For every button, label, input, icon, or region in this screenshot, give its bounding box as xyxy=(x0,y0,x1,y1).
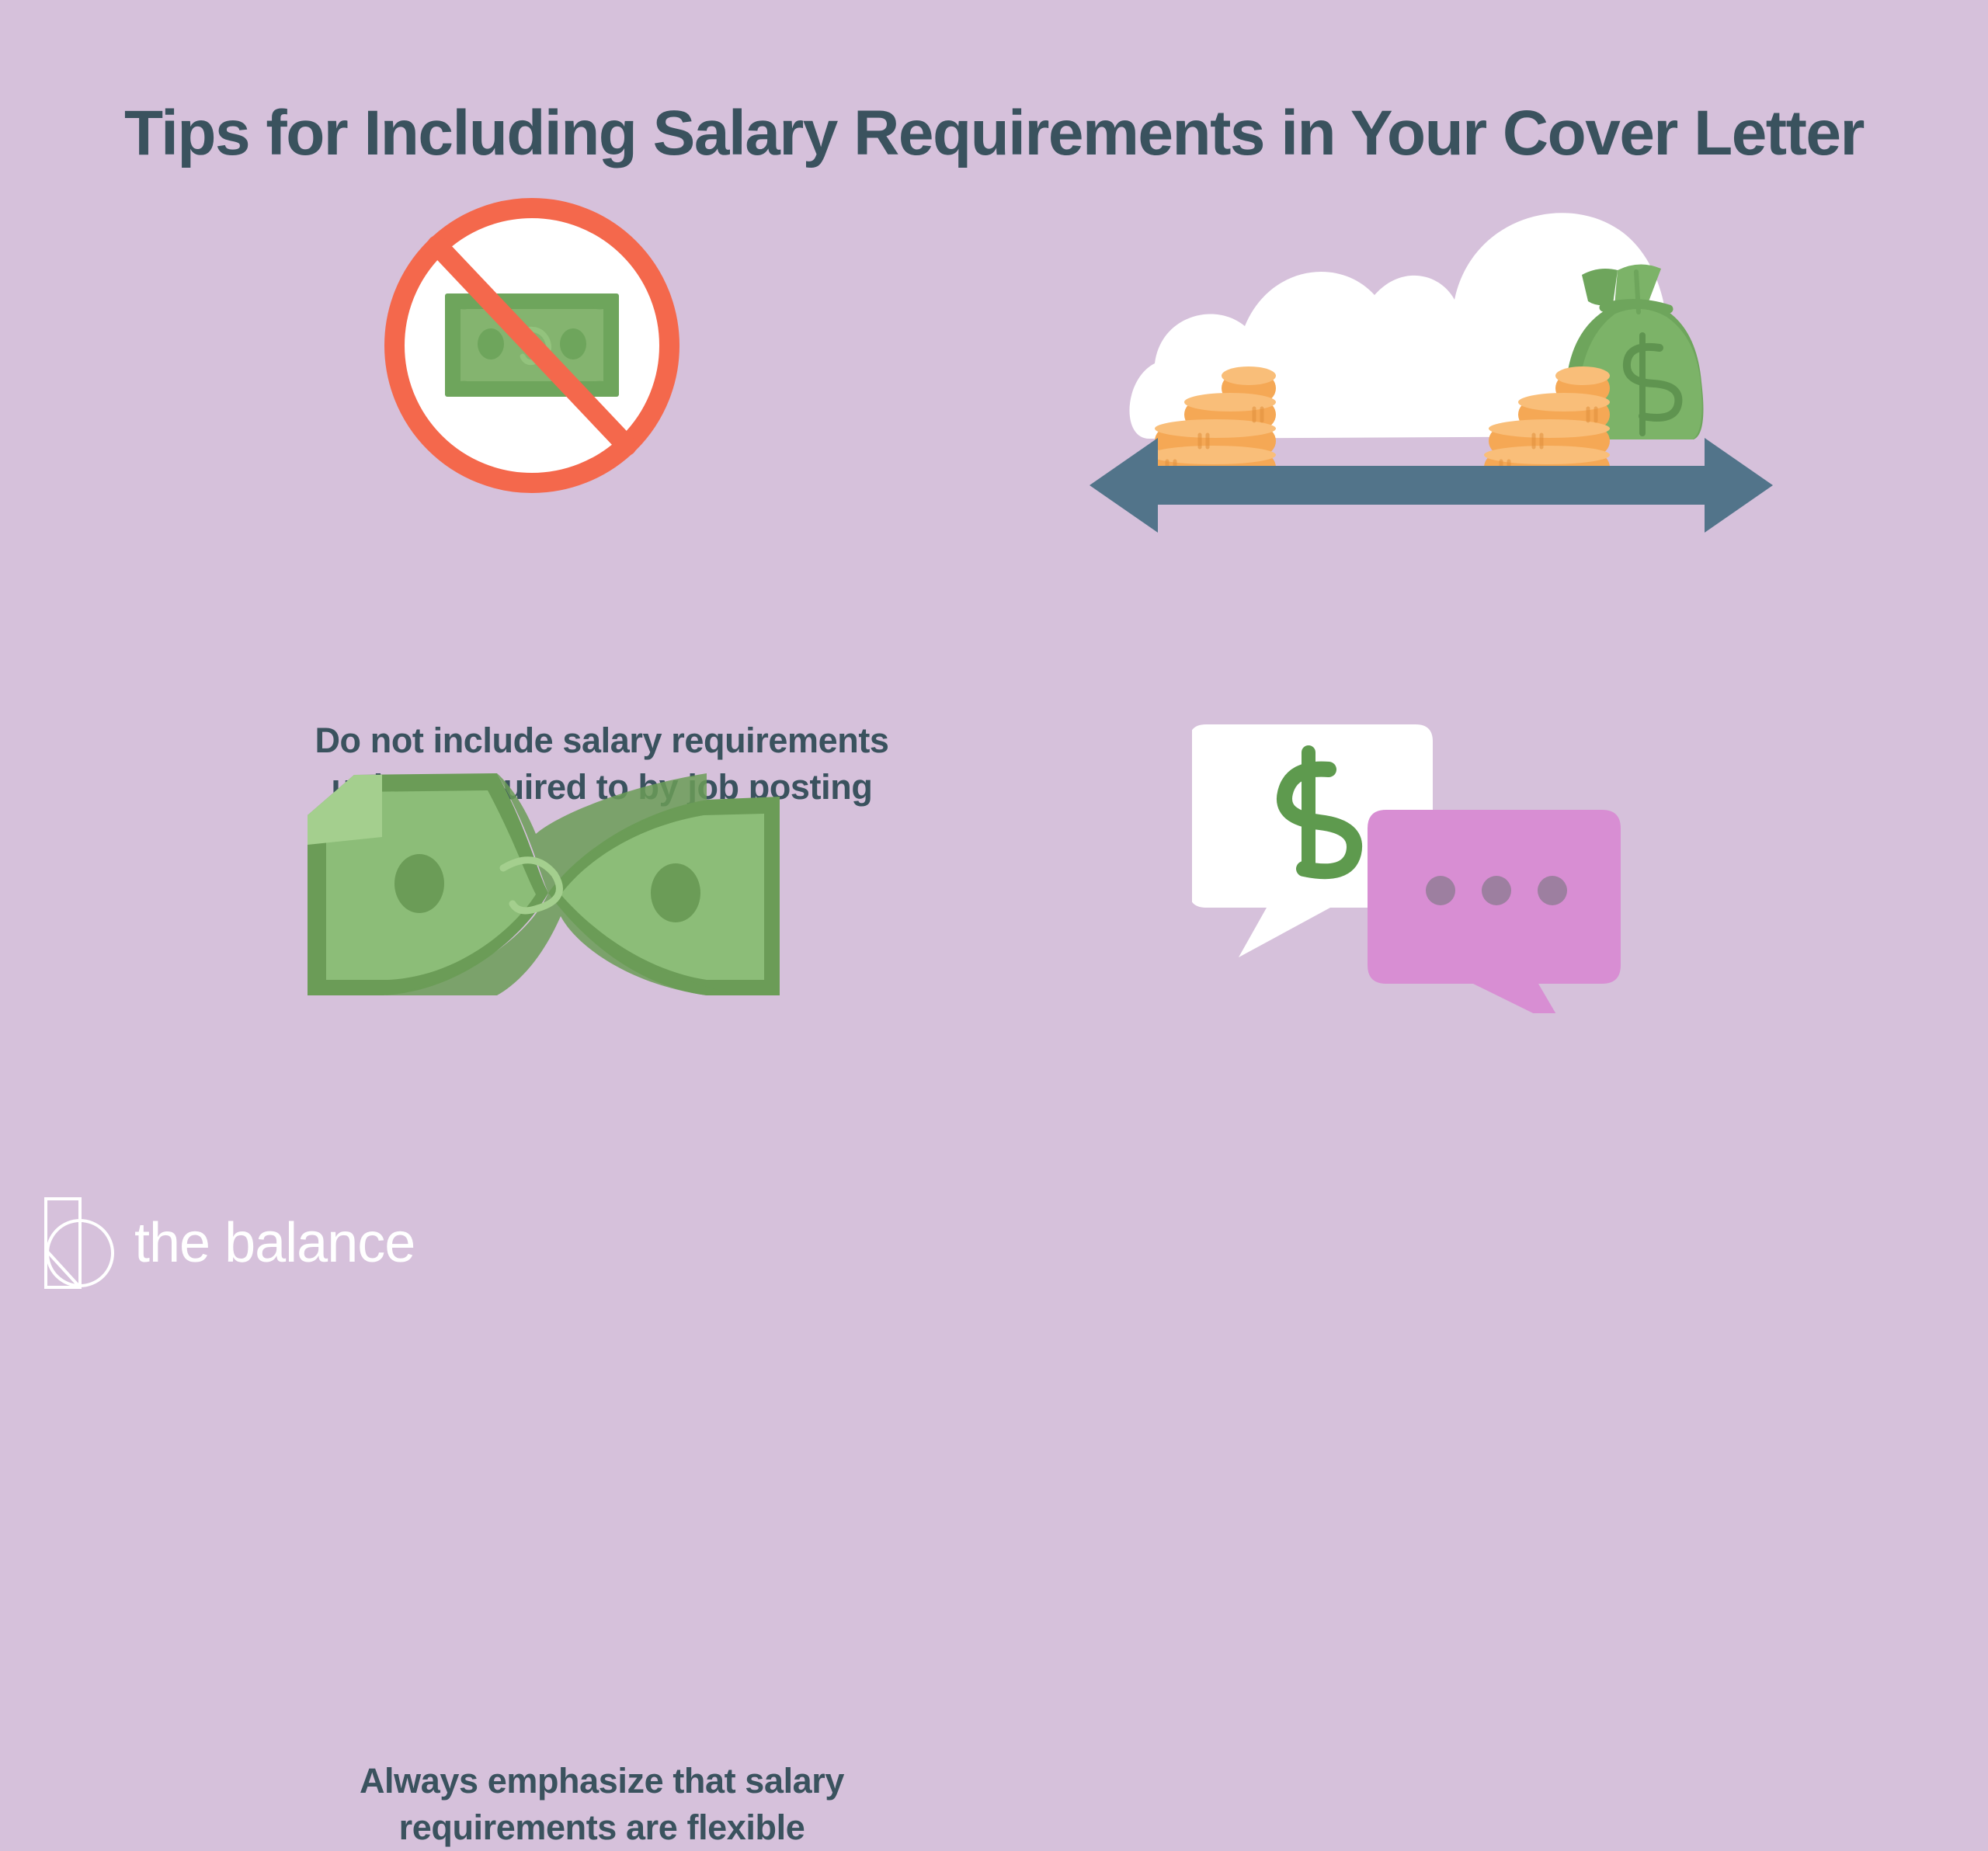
bubble-pink-dots xyxy=(1368,810,1621,1013)
double-headed-arrow-svg xyxy=(1090,435,1773,536)
dot-3 xyxy=(1538,876,1567,905)
tip-card-no-salary: Do not include salary requirements unles… xyxy=(70,179,994,613)
bill-left-oval xyxy=(394,854,444,913)
double-headed-arrow-icon xyxy=(1090,435,1773,536)
page-title: Tips for Including Salary Requirements i… xyxy=(0,97,1988,170)
dot-1 xyxy=(1426,876,1455,905)
tip-card-flexible: Always emphasize that salary requirement… xyxy=(70,722,994,1157)
dot-2 xyxy=(1482,876,1511,905)
tip-card-negotiable: Another option is to state that salary r… xyxy=(1002,722,1926,1157)
speech-bubbles-icon xyxy=(1192,718,1627,1013)
bill-right-oval xyxy=(651,863,700,922)
tip-card-salary-range: If you must, include a (realistic) salar… xyxy=(1002,179,1926,613)
speech-bubbles-svg xyxy=(1192,718,1627,1013)
no-money-sign-svg xyxy=(384,179,679,512)
twisted-dollar-bill-svg xyxy=(303,769,784,1002)
tip-caption-flexible: Always emphasize that salary requirement… xyxy=(140,1758,1064,1851)
infographic-canvas: Tips for Including Salary Requirements i… xyxy=(0,0,1988,1325)
brand-logo: the balance xyxy=(43,1196,415,1290)
bill-corner-highlight xyxy=(308,775,382,845)
no-money-sign-icon xyxy=(384,179,679,512)
brand-wordmark: the balance xyxy=(134,1215,415,1271)
caption-line-1: Always emphasize that salary xyxy=(140,1758,1064,1804)
balance-b-monogram-icon xyxy=(43,1196,114,1290)
caption-line-2: requirements are flexible xyxy=(140,1804,1064,1851)
twisted-dollar-bill-icon xyxy=(303,769,784,1002)
